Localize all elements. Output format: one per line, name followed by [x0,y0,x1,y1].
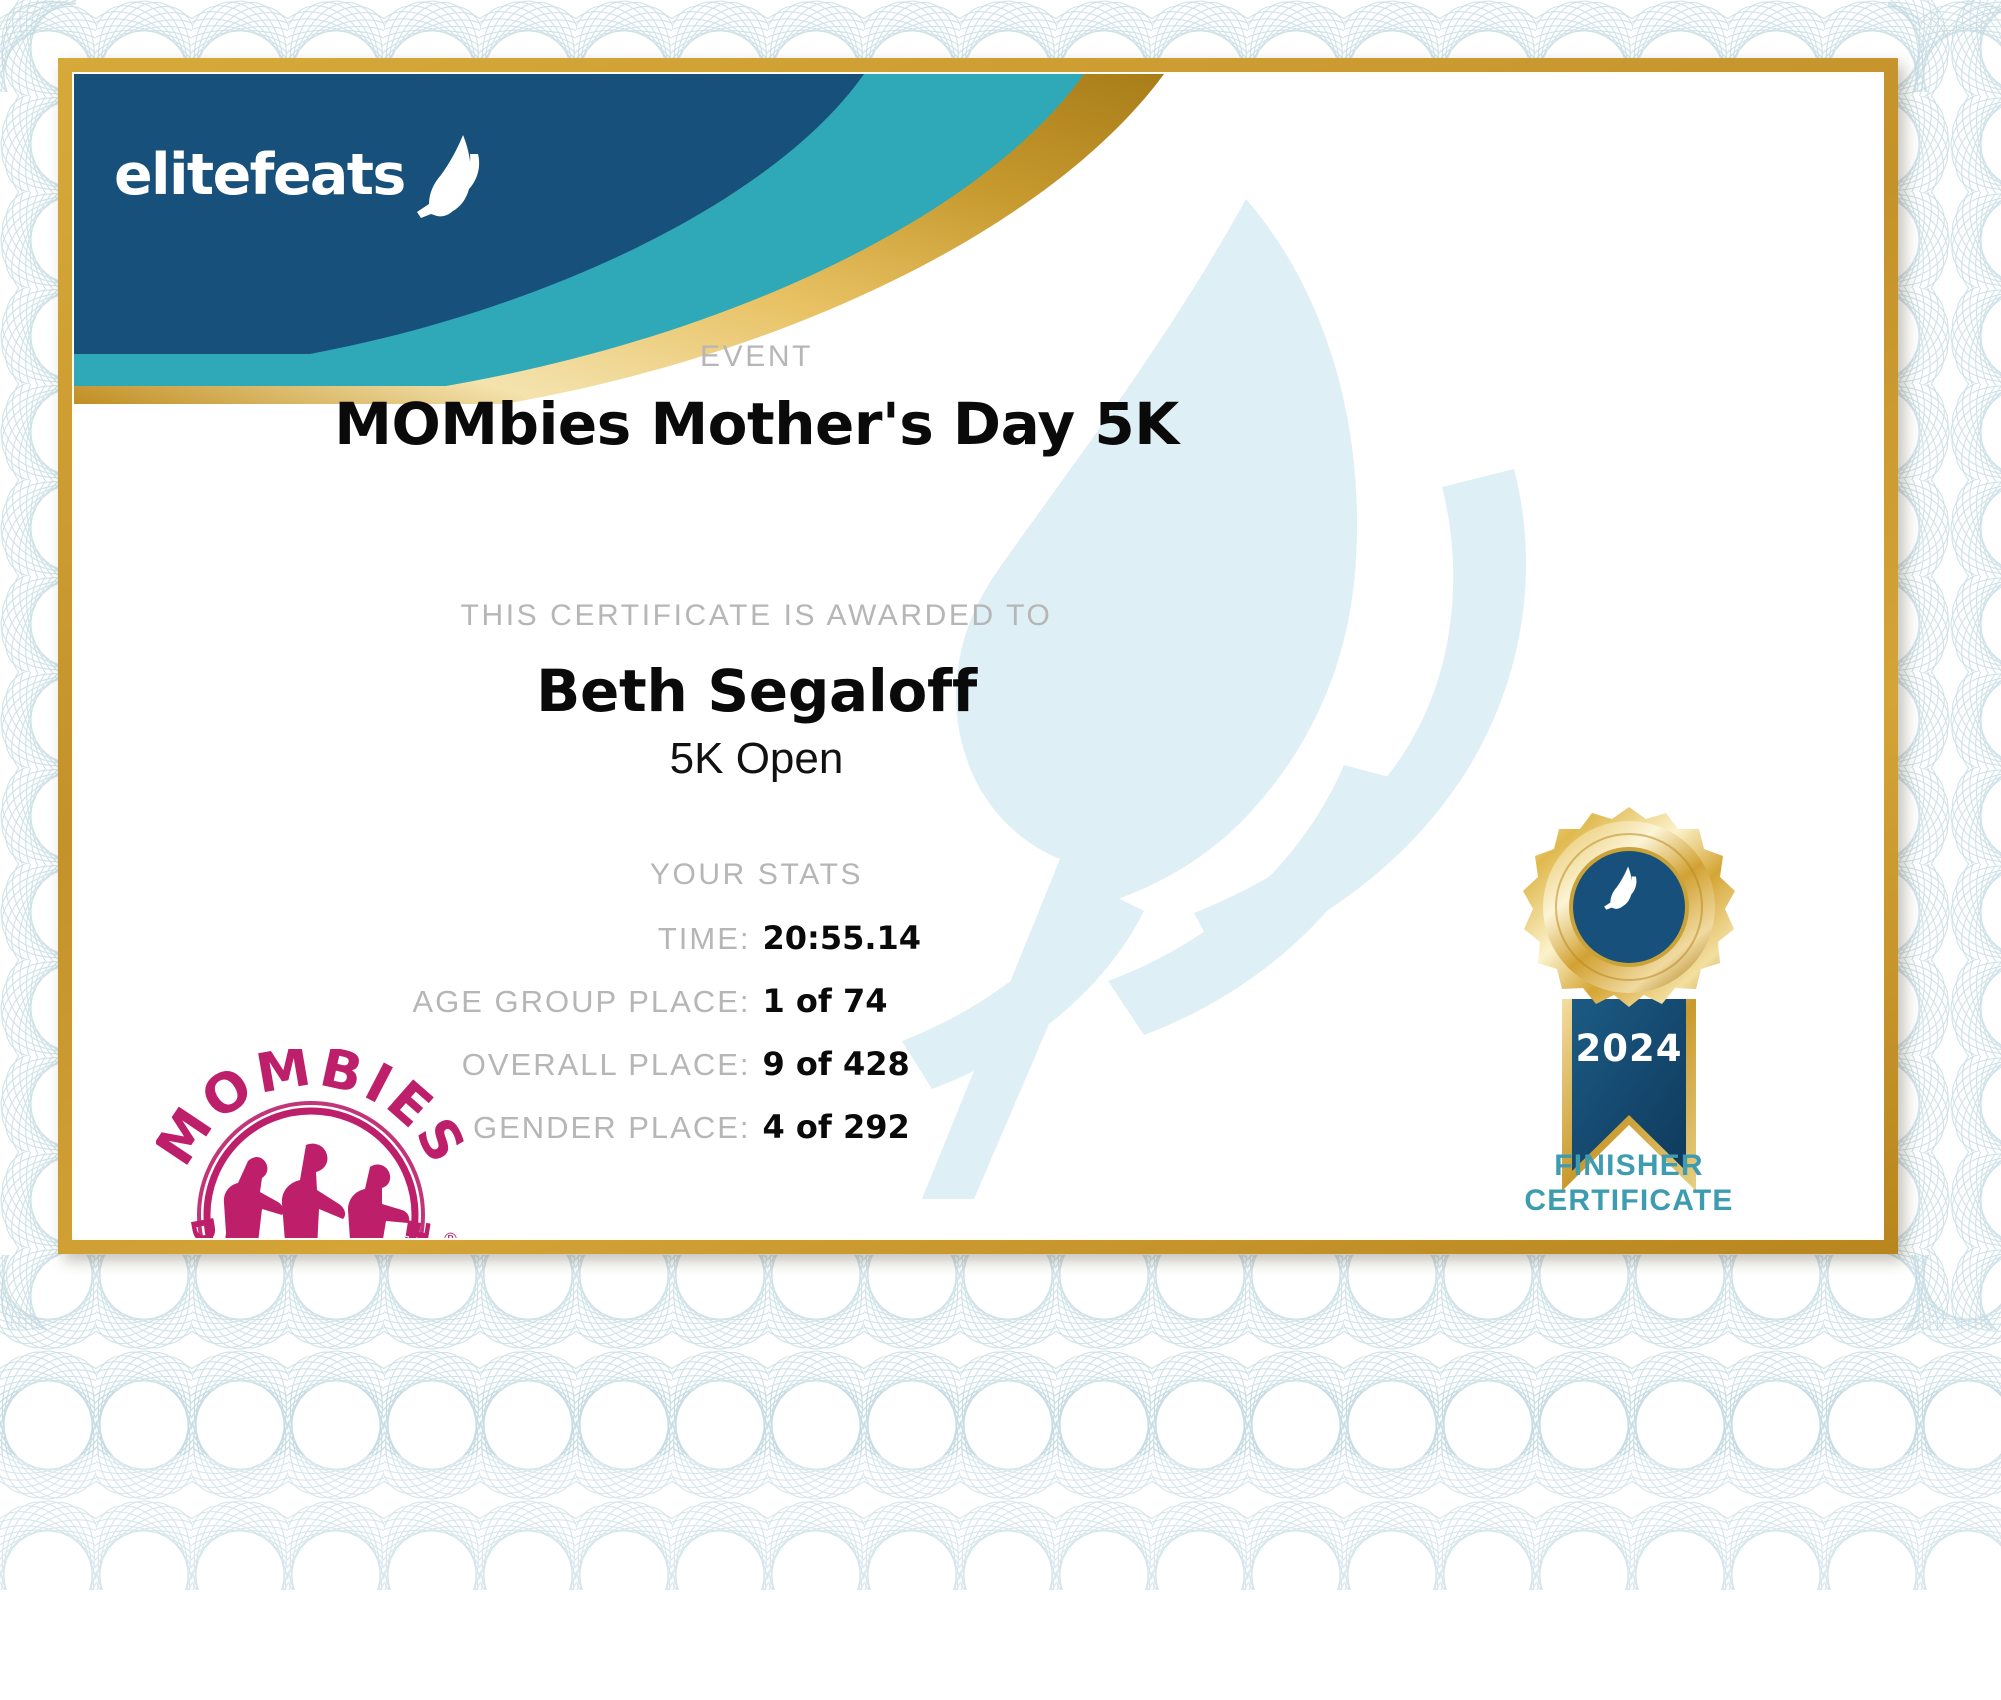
badge-caption: FINISHER CERTIFICATE [1444,1149,1814,1219]
event-name: MOMbies Mother's Day 5K [74,390,1439,458]
mombies-logo-icon: MOMBIES DANCE TO DONATE ® [156,1049,466,1238]
stats-label: YOUR STATS [74,858,1439,892]
stat-value: 1 of 74 [763,982,1163,1020]
event-label: EVENT [74,340,1439,374]
division-name: 5K Open [74,734,1439,784]
stat-row-time: TIME: 20:55.14 [74,919,1439,975]
stat-key: AGE GROUP PLACE: [351,984,751,1020]
awarded-to-label: THIS CERTIFICATE IS AWARDED TO [74,599,1439,633]
certificate-body: elitefeats EVENT MOMbies Mother's Day 5K… [74,74,1882,1238]
stat-key: TIME: [351,921,751,957]
winged-foot-icon [409,132,485,218]
badge-caption-line1: FINISHER [1444,1149,1814,1184]
svg-text:®: ® [442,1230,459,1238]
brand-wordmark: elitefeats [114,147,405,204]
badge-caption-line2: CERTIFICATE [1444,1184,1814,1219]
stat-row-age-group-place: AGE GROUP PLACE: 1 of 74 [74,982,1439,1038]
stat-value: 20:55.14 [763,919,1163,957]
recipient-name: Beth Segaloff [74,657,1439,725]
brand-logo: elitefeats [114,132,485,218]
stat-value: 9 of 428 [763,1045,1163,1083]
stat-value: 4 of 292 [763,1108,1163,1146]
medallion [1523,807,1735,1007]
badge-year: 2024 [1576,1027,1683,1070]
certificate-page: elitefeats EVENT MOMbies Mother's Day 5K… [0,0,2001,1700]
